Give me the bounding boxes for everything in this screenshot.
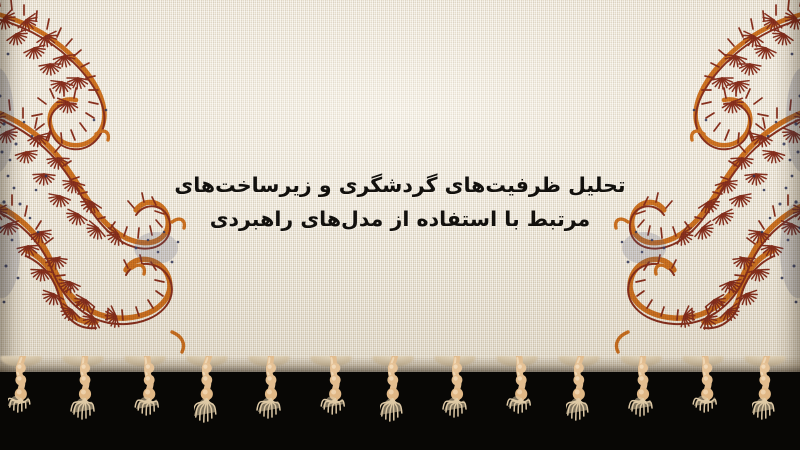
title-line-2: مرتبط با استفاده از مدل‌های راهبردی <box>0 202 800 236</box>
tassel <box>752 356 782 450</box>
tassel <box>690 356 720 450</box>
tassel <box>70 356 100 450</box>
tassel <box>132 356 162 450</box>
tassel <box>628 356 658 450</box>
slide-title: تحلیل ظرفیت‌های گردشگری و زیرساخت‌های مر… <box>0 168 800 236</box>
tassel <box>194 356 224 450</box>
tassel <box>318 356 348 450</box>
tassel-fringe <box>0 356 800 450</box>
title-slide: تحلیل ظرفیت‌های گردشگری و زیرساخت‌های مر… <box>0 0 800 450</box>
tassel <box>256 356 286 450</box>
tassel <box>8 356 38 450</box>
tassel <box>442 356 472 450</box>
tassel <box>380 356 410 450</box>
tassel <box>566 356 596 450</box>
tassel <box>504 356 534 450</box>
title-line-1: تحلیل ظرفیت‌های گردشگری و زیرساخت‌های <box>0 168 800 202</box>
